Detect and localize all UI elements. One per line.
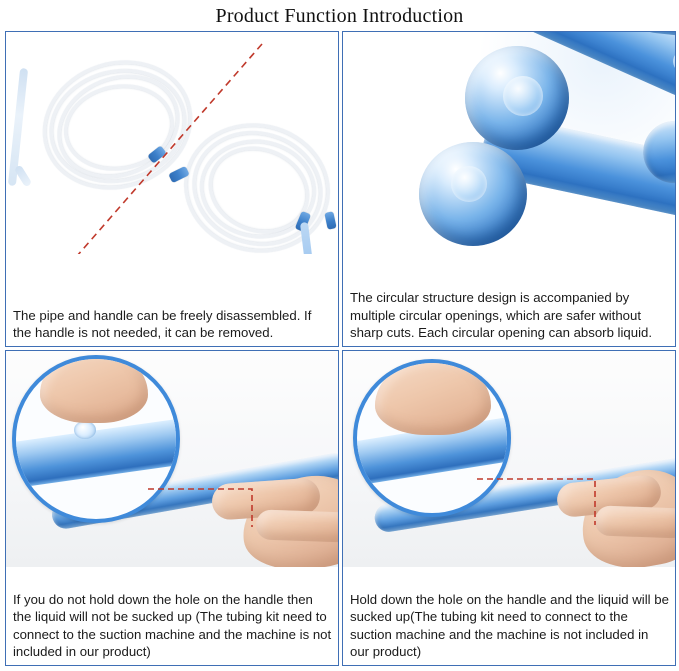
panel-detachable-caption: The pipe and handle can be freely disass…	[6, 303, 338, 346]
panel-hole-open: If you do not hold down the hole on the …	[5, 350, 339, 666]
page-title: Product Function Introduction	[0, 0, 679, 34]
magnified-finger-pressing-hole	[375, 359, 491, 435]
panel-hole-open-image	[6, 351, 338, 567]
magnified-inset	[353, 359, 511, 517]
panel-hole-closed: Hold down the hole on the handle and the…	[342, 350, 676, 666]
panel-grid: The pipe and handle can be freely disass…	[5, 31, 674, 666]
magnified-finger	[40, 355, 148, 423]
panel-detachable-image	[6, 32, 338, 254]
panel-circular-openings-caption: The circular structure design is accompa…	[343, 285, 675, 346]
circular-opening	[503, 76, 543, 116]
panel-hole-closed-image	[343, 351, 675, 567]
circular-opening	[451, 166, 487, 202]
magnified-hole	[74, 421, 96, 439]
panel-circular-openings: The circular structure design is accompa…	[342, 31, 676, 347]
middle-finger	[256, 509, 338, 542]
product-infographic: Product Function Introduction	[0, 0, 679, 671]
middle-finger	[595, 505, 675, 538]
magnified-inset	[12, 355, 180, 523]
panel-detachable: The pipe and handle can be freely disass…	[5, 31, 339, 347]
panel-hole-closed-caption: Hold down the hole on the handle and the…	[343, 587, 675, 665]
panel-circular-openings-image	[343, 32, 675, 254]
blue-connector	[324, 211, 336, 229]
magnified-handle-tube	[12, 413, 180, 491]
panel-hole-open-caption: If you do not hold down the hole on the …	[6, 587, 338, 665]
